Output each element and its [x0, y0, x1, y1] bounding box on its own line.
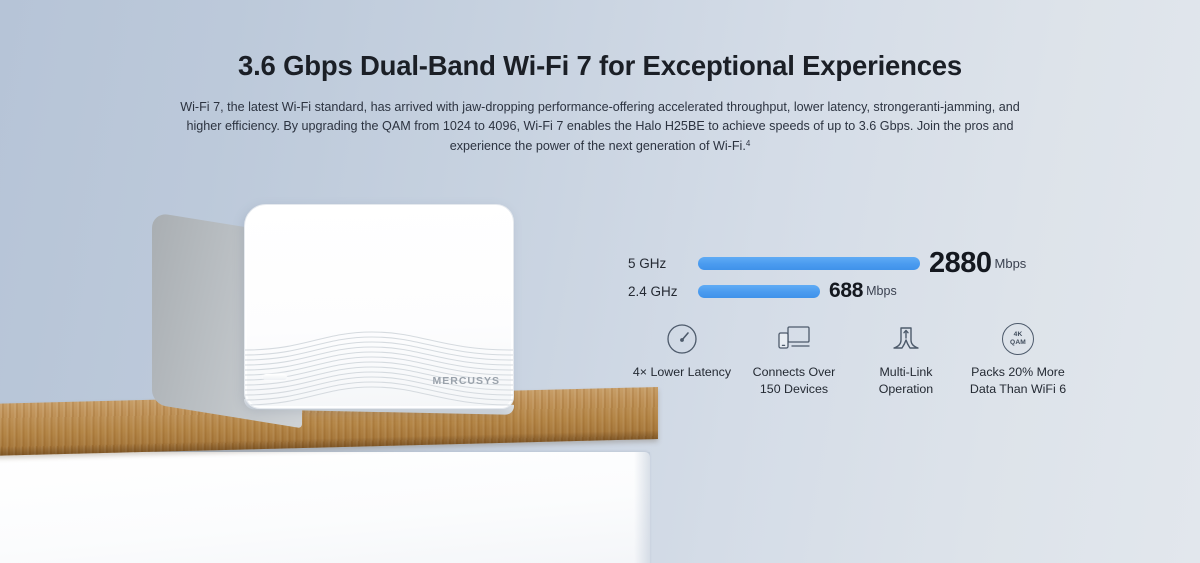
- speedometer-icon: [628, 320, 736, 358]
- speed-bar-fill-24ghz: [698, 285, 820, 298]
- router-led-indicator: [263, 374, 287, 380]
- feature-list: 4× Lower Latency Connects Over 150 Devic…: [628, 320, 1072, 398]
- speed-row-5ghz: 5 GHz 2880 Mbps: [628, 249, 1068, 277]
- router-front-panel: MERCUSYS: [244, 204, 514, 409]
- feature-line-2: Operation: [879, 382, 933, 396]
- multi-link-icon: [852, 320, 960, 358]
- 4k-qam-badge-icon: 4K QAM: [964, 320, 1072, 358]
- hero-banner: 3.6 Gbps Dual-Band Wi-Fi 7 for Exception…: [0, 0, 1200, 563]
- feature-line-1: 4× Lower Latency: [633, 365, 731, 379]
- feature-line-1: Multi-Link: [879, 365, 932, 379]
- description-line-2: higher efficiency. By upgrading the QAM …: [186, 119, 1013, 133]
- page-title: 3.6 Gbps Dual-Band Wi-Fi 7 for Exception…: [0, 50, 1200, 82]
- speed-band-label-24ghz: 2.4 GHz: [628, 284, 690, 299]
- feature-label-4k-qam: Packs 20% More Data Than WiFi 6: [964, 364, 1072, 398]
- speed-unit-5ghz: Mbps: [995, 256, 1027, 271]
- speed-value-5ghz: 2880: [929, 247, 992, 280]
- router-brand-logo: MERCUSYS: [432, 375, 500, 387]
- speed-band-label-5ghz: 5 GHz: [628, 256, 690, 271]
- feature-label-lower-latency: 4× Lower Latency: [628, 364, 736, 381]
- feature-label-multi-link: Multi-Link Operation: [852, 364, 960, 398]
- feature-line-1: Packs 20% More: [971, 365, 1065, 379]
- speed-bar-track-24ghz: [698, 285, 820, 298]
- feature-4k-qam: 4K QAM Packs 20% More Data Than WiFi 6: [964, 320, 1072, 398]
- feature-multi-link: Multi-Link Operation: [852, 320, 960, 398]
- speed-chart: 5 GHz 2880 Mbps 2.4 GHz 688 Mbps: [628, 249, 1068, 305]
- feature-connects-devices: Connects Over 150 Devices: [740, 320, 848, 398]
- speed-value-24ghz: 688: [829, 279, 863, 303]
- description-line-3: experience the power of the next generat…: [450, 139, 746, 153]
- feature-label-connects-devices: Connects Over 150 Devices: [740, 364, 848, 398]
- speed-row-24ghz: 2.4 GHz 688 Mbps: [628, 277, 1068, 305]
- feature-lower-latency: 4× Lower Latency: [628, 320, 736, 398]
- feature-line-2: Data Than WiFi 6: [970, 382, 1066, 396]
- qam-badge-bottom: QAM: [1010, 339, 1026, 347]
- devices-icon: [740, 320, 848, 358]
- router-wave-pattern: [245, 330, 513, 408]
- speed-unit-24ghz: Mbps: [866, 284, 897, 298]
- feature-line-1: Connects Over: [753, 365, 836, 379]
- cabinet-body: [0, 452, 650, 563]
- feature-line-2: 150 Devices: [760, 382, 828, 396]
- speed-bar-fill-5ghz: [698, 257, 920, 270]
- speed-bar-track-5ghz: [698, 257, 920, 270]
- router-product-image: MERCUSYS: [152, 204, 552, 416]
- hero-description: Wi-Fi 7, the latest Wi-Fi standard, has …: [176, 98, 1024, 156]
- qam-badge-top: 4K: [1014, 331, 1023, 339]
- footnote-marker: 4: [746, 139, 750, 148]
- description-line-1: Wi-Fi 7, the latest Wi-Fi standard, has …: [180, 100, 1020, 114]
